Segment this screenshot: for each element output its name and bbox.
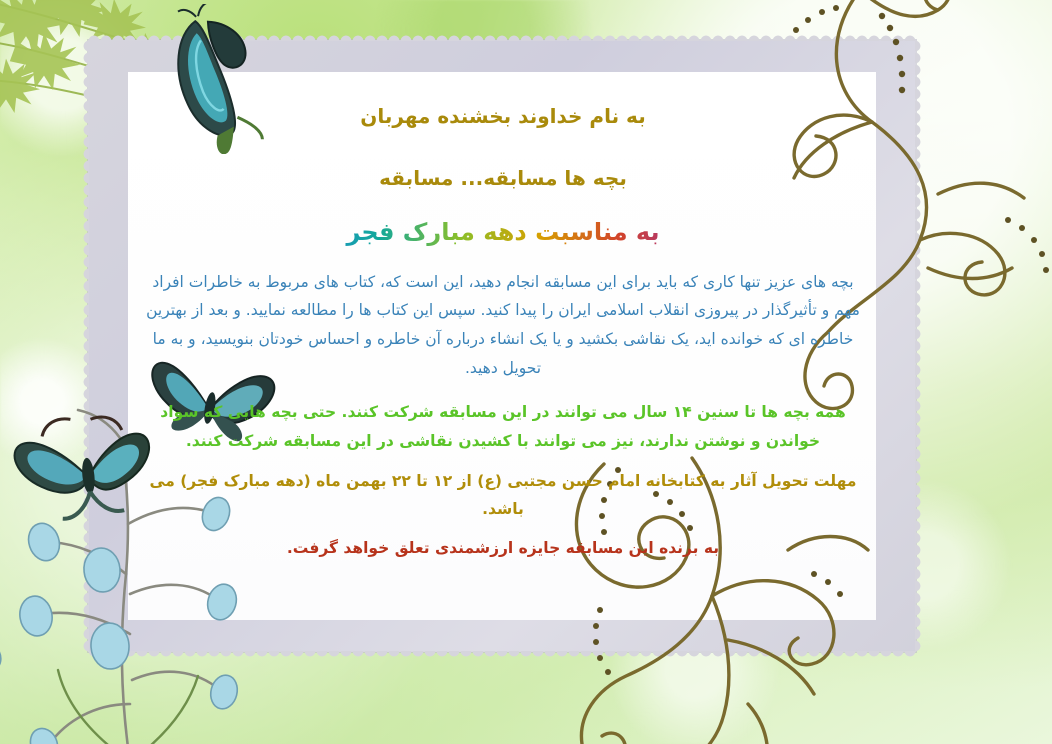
- deadline-paragraph: مهلت تحویل آثار به کتابخانه امام حسن مجت…: [140, 468, 866, 524]
- poster-text-content: به نام خداوند بخشنده مهربان بچه ها مسابق…: [140, 78, 866, 618]
- instructions-paragraph: بچه های عزیز تنها کاری که باید برای این …: [140, 268, 866, 383]
- poster-canvas: به نام خداوند بخشنده مهربان بچه ها مسابق…: [0, 0, 1052, 744]
- subtitle-heading: بچه ها مسابقه... مسابقه: [140, 162, 866, 194]
- eligibility-paragraph: همه بچه ها تا سنین ۱۴ سال می توانند در ا…: [140, 398, 866, 455]
- mat-scallop-right: [915, 40, 924, 652]
- prize-paragraph: به برنده این مسابقه جایزه ارزشمندی تعلق …: [140, 535, 866, 563]
- bismillah-heading: به نام خداوند بخشنده مهربان: [140, 100, 866, 132]
- mat-scallop-left: [80, 40, 89, 652]
- occasion-heading: به مناسبت دهه مبارک فجر: [140, 213, 866, 252]
